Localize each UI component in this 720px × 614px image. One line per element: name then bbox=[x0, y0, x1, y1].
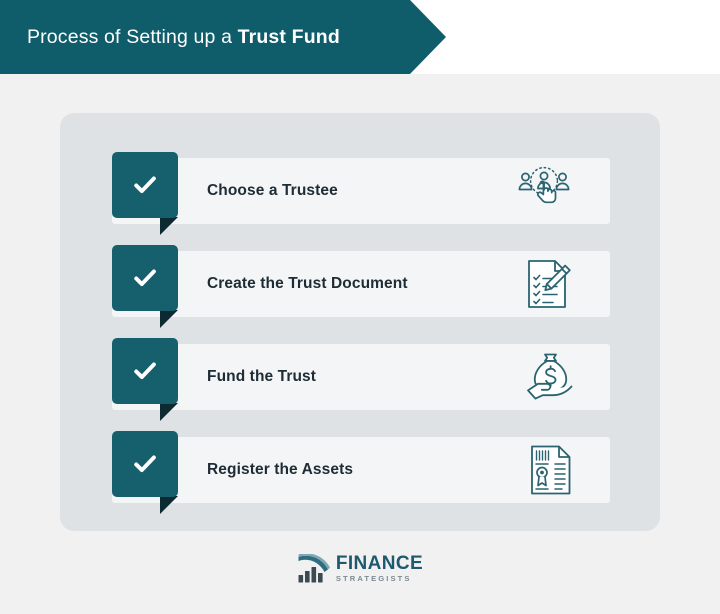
step-label: Choose a Trustee bbox=[207, 158, 338, 224]
check-badge-tail bbox=[160, 496, 178, 514]
header-banner: Process of Setting up a Trust Fund bbox=[0, 0, 446, 74]
check-badge-tail bbox=[160, 403, 178, 421]
page-title-prefix: Process of Setting up a bbox=[27, 26, 238, 48]
logo-secondary-text: STRATEGISTS bbox=[336, 575, 412, 583]
check-badge-square bbox=[112, 338, 178, 404]
document-pencil-icon bbox=[522, 257, 576, 311]
check-badge-tail bbox=[160, 310, 178, 328]
footer-logo: FINANCE STRATEGISTS bbox=[0, 548, 720, 588]
step-check-badge[interactable] bbox=[112, 431, 178, 497]
checkmark-icon bbox=[131, 264, 159, 292]
checkmark-icon bbox=[131, 357, 159, 385]
logo-wordmark: FINANCE STRATEGISTS bbox=[336, 554, 423, 583]
bar-chart-arc-logo-icon bbox=[297, 554, 331, 583]
step-label: Fund the Trust bbox=[207, 344, 316, 410]
step-check-badge[interactable] bbox=[112, 338, 178, 404]
step-check-badge[interactable] bbox=[112, 245, 178, 311]
infographic-root: Process of Setting up a Trust Fund Choos… bbox=[0, 0, 720, 614]
check-badge-tail bbox=[160, 217, 178, 235]
page-title-emphasis: Trust Fund bbox=[238, 26, 340, 48]
check-badge-square bbox=[112, 245, 178, 311]
checkmark-icon bbox=[131, 171, 159, 199]
step-label: Create the Trust Document bbox=[207, 251, 408, 317]
page-title: Process of Setting up a Trust Fund bbox=[27, 26, 340, 49]
check-badge-square bbox=[112, 431, 178, 497]
checkmark-icon bbox=[131, 450, 159, 478]
people-selection-icon bbox=[517, 164, 571, 218]
hand-money-bag-icon bbox=[522, 350, 576, 404]
check-badge-square bbox=[112, 152, 178, 218]
certificate-seal-icon bbox=[524, 443, 578, 497]
step-check-badge[interactable] bbox=[112, 152, 178, 218]
step-label: Register the Assets bbox=[207, 437, 353, 503]
logo-primary-text: FINANCE bbox=[336, 554, 423, 573]
